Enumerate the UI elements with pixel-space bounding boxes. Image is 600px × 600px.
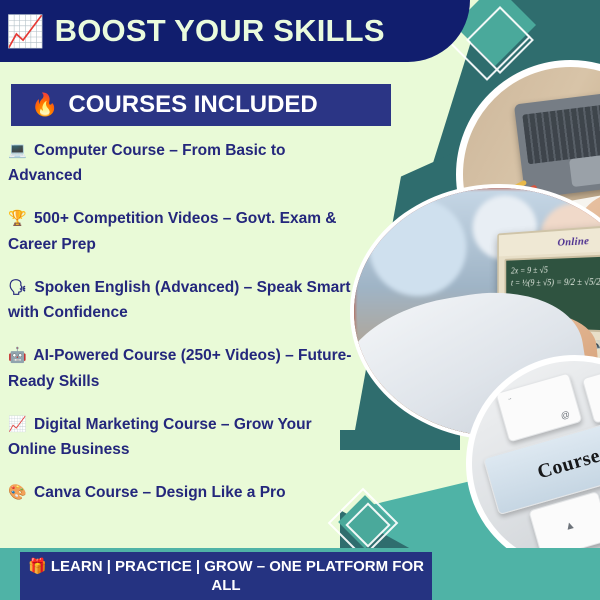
- laptop-icon: 💻: [8, 142, 27, 159]
- chalkboard-line: t = ½(9 ± √5) = 9/2 ± √5/2: [511, 275, 600, 290]
- poster-header: 📈 BOOST YOUR SKILLS: [0, 0, 470, 62]
- course-key-label: Course: [535, 445, 600, 485]
- list-item: 📈 Digital Marketing Course – Grow Your O…: [8, 412, 360, 462]
- course-list: 💻 Computer Course – From Basic to Advanc…: [8, 138, 360, 523]
- list-item-label: Canva Course – Design Like a Pro: [34, 484, 286, 501]
- laptop-keys-graphic: [523, 99, 600, 164]
- fire-icon: 🔥: [31, 94, 58, 116]
- section-title: COURSES INCLUDED: [68, 91, 317, 119]
- artist-palette-icon: 🎨: [8, 484, 27, 501]
- list-item: 🤖 AI-Powered Course (250+ Videos) – Futu…: [8, 343, 360, 393]
- list-item: 🗣 Spoken English (Advanced) – Speak Smar…: [8, 275, 360, 325]
- footer-text: LEARN | PRACTICE | GROW – ONE PLATFORM F…: [51, 558, 424, 595]
- list-item-label: 500+ Competition Videos – Govt. Exam & C…: [8, 210, 337, 252]
- poster-canvas: Online 2x = 9 ± √5 t = ½(9 ± √5) = 9/2 ±…: [0, 0, 600, 600]
- gift-icon: 🎁: [28, 558, 47, 575]
- footer-banner: 🎁 LEARN | PRACTICE | GROW – ONE PLATFORM…: [20, 552, 432, 600]
- list-item-label: AI-Powered Course (250+ Videos) – Future…: [8, 347, 351, 389]
- chart-increasing-icon: 📈: [8, 416, 27, 433]
- list-item-label: Spoken English (Advanced) – Speak Smart …: [8, 279, 350, 321]
- chart-increasing-icon: 📈: [6, 16, 45, 47]
- chalkboard-line: 2x = 9 ± √5: [511, 260, 600, 277]
- trophy-icon: 🏆: [8, 210, 27, 227]
- list-item-label: Computer Course – From Basic to Advanced: [8, 142, 286, 184]
- list-item: 💻 Computer Course – From Basic to Advanc…: [8, 138, 360, 188]
- list-item-label: Digital Marketing Course – Grow Your Onl…: [8, 416, 312, 458]
- robot-icon: 🤖: [8, 347, 27, 364]
- keyboard-key-graphic: ↰: [582, 361, 600, 424]
- list-item: 🎨 Canva Course – Design Like a Pro: [8, 480, 360, 505]
- list-item: 🏆 500+ Competition Videos – Govt. Exam &…: [8, 206, 360, 256]
- speaking-head-icon: 🗣: [8, 279, 27, 296]
- courses-included-bar: 🔥 COURSES INCLUDED: [11, 84, 391, 126]
- keyboard-key-graphic: ¨ @: [495, 372, 582, 442]
- page-title: BOOST YOUR SKILLS: [55, 13, 385, 49]
